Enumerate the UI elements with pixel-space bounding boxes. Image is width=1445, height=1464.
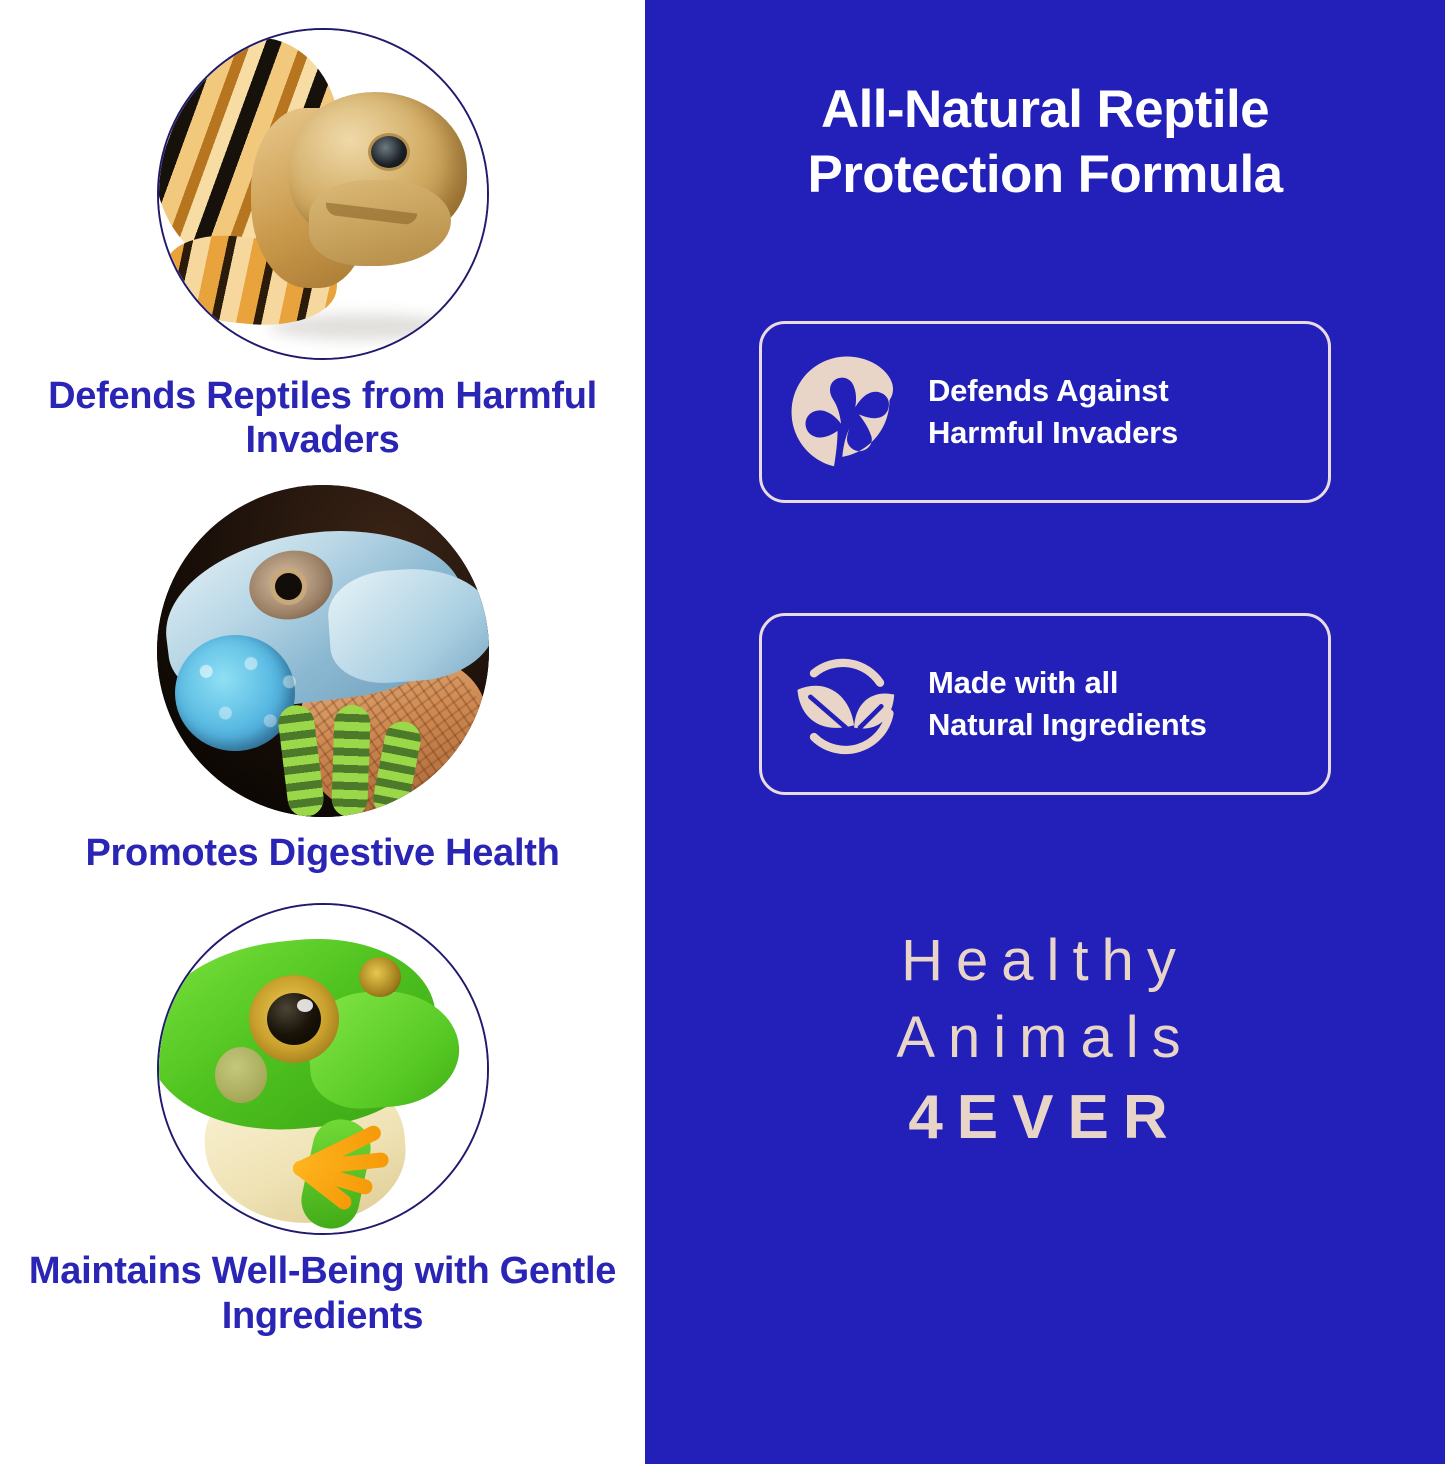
microbe-icon [788,353,906,471]
badge-label: Made with all Natural Ingredients [928,662,1207,746]
frog-second-eye [359,957,401,997]
frog-pupil [267,993,321,1045]
brand-line-healthy: Healthy [896,923,1193,1000]
iguana-toe [331,704,371,817]
page-title: All-Natural Reptile Protection Formula [695,78,1395,207]
left-feature-panel: Defends Reptiles from Harmful Invaders [0,0,645,1464]
right-info-panel: All-Natural Reptile Protection Formula D… [645,0,1445,1464]
frog-photo [157,903,489,1235]
feature-caption-iguana: Promotes Digestive Health [23,831,623,875]
feature-caption-tortoise: Defends Reptiles from Harmful Invaders [23,374,623,463]
tortoise-photo [157,28,489,360]
iguana-snout [325,563,489,686]
tortoise-eye [371,136,407,168]
feature-block-frog: Maintains Well-Being with Gentle Ingredi… [0,903,645,1338]
frog-eye-glint [297,999,313,1012]
brand-line-4ever: 4EVER [896,1078,1193,1159]
tortoise-jaw [309,180,451,266]
frog-tympanum [215,1047,267,1103]
badge-defends-against-invaders: Defends Against Harmful Invaders [759,321,1331,503]
frog-illustration [159,905,487,1233]
frog-foot [279,1131,449,1211]
feature-caption-frog: Maintains Well-Being with Gentle Ingredi… [23,1249,623,1338]
feature-block-iguana: Promotes Digestive Health [0,485,645,875]
brand-logo: Healthy Animals 4EVER [896,923,1193,1159]
badge-list: Defends Against Harmful Invaders Made wi… [759,321,1331,795]
feature-block-tortoise: Defends Reptiles from Harmful Invaders [0,28,645,463]
iguana-illustration [157,485,489,817]
brand-line-animals: Animals [896,1000,1193,1077]
leaf-icon [788,645,906,763]
iguana-pupil [275,573,302,600]
badge-label: Defends Against Harmful Invaders [928,370,1178,454]
badge-natural-ingredients: Made with all Natural Ingredients [759,613,1331,795]
product-infographic: Defends Reptiles from Harmful Invaders [0,0,1445,1464]
tortoise-illustration [159,30,487,358]
iguana-photo [157,485,489,817]
